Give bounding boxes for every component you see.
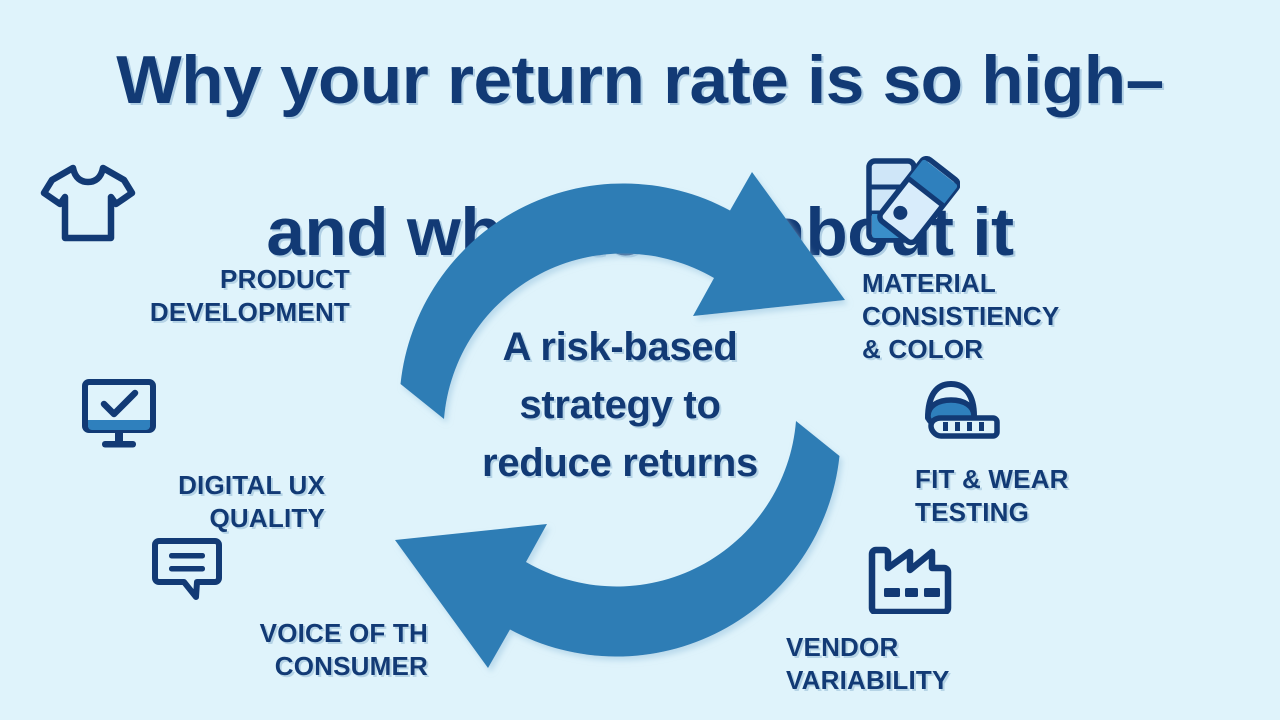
node-digital-ux-quality: DIGITAL UX QUALITY — [80, 378, 325, 535]
node-label-digital-ux-quality: DIGITAL UX QUALITY — [80, 469, 325, 535]
center-statement: A risk-based strategy to reduce returns — [420, 318, 820, 492]
node-fit-and-wear-testing: FIT & WEAR TESTING — [915, 378, 1175, 529]
node-product-development: PRODUCT DEVELOPMENT — [40, 160, 350, 329]
measuring-tape-icon — [917, 378, 1175, 447]
node-material-consistency-color: MATERIAL CONSISTIENCY & COLOR — [862, 156, 1162, 366]
color-swatch-icon — [864, 156, 1162, 253]
page-title-line-1: Why your return rate is so high– — [0, 42, 1280, 118]
tshirt-icon — [40, 160, 338, 249]
infographic-slide: Why your return rate is so high– and wha… — [0, 0, 1280, 720]
monitor-check-icon — [80, 378, 287, 457]
node-label-product-development: PRODUCT DEVELOPMENT — [40, 263, 350, 329]
node-label-voice-of-the-consumer: VOICE OF TH CONSUMER — [150, 617, 428, 683]
node-voice-of-the-consumer: VOICE OF TH CONSUMER — [150, 536, 428, 683]
factory-icon — [864, 538, 1086, 619]
node-label-material-consistency-color: MATERIAL CONSISTIENCY & COLOR — [862, 267, 1162, 366]
node-label-fit-and-wear-testing: FIT & WEAR TESTING — [915, 463, 1175, 529]
speech-bubble-icon — [150, 536, 344, 607]
node-vendor-variability: VENDOR VARIABILITY — [786, 538, 1086, 697]
node-label-vendor-variability: VENDOR VARIABILITY — [786, 631, 1086, 697]
